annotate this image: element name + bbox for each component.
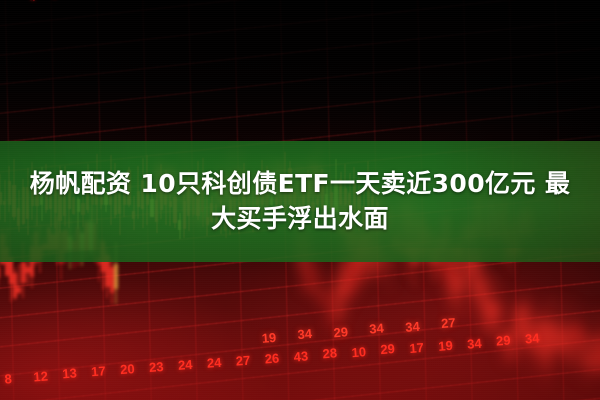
axis-tick-label: 29 <box>333 325 348 339</box>
axis-tick-label: 34 <box>525 332 540 346</box>
axis-tick-label: 17 <box>409 341 424 355</box>
axis-tick-label: 23 <box>149 360 164 374</box>
axis-tick-label: 27 <box>441 316 456 330</box>
axis-tick-label: 27 <box>235 354 250 368</box>
axis-tick-label: 19 <box>438 339 453 353</box>
axis-tick-label: 34 <box>297 327 312 341</box>
axis-tick-label: 29 <box>496 334 511 348</box>
axis-tick-label: 28 <box>322 346 337 360</box>
headline-block: 杨帆配资 10只科创债ETF一天卖近300亿元 最 大买手浮出水面 <box>0 141 600 262</box>
axis-tick-label: 8 <box>4 372 12 385</box>
headline-line-2: 大买手浮出水面 <box>211 205 389 234</box>
axis-tick-label: 24 <box>178 358 193 372</box>
axis-tick-label: 24 <box>206 355 221 369</box>
axis-tick-label: 34 <box>467 337 482 351</box>
axis-tick-label: 29 <box>380 342 395 356</box>
axis-tick-label: 19 <box>261 330 276 344</box>
axis-tick-label: 34 <box>405 320 420 334</box>
headline-line-1: 杨帆配资 10只科创债ETF一天卖近300亿元 最 <box>30 170 571 199</box>
axis-tick-label: 43 <box>293 350 308 364</box>
axis-tick-label: 12 <box>33 369 48 383</box>
axis-tick-label: 34 <box>369 322 384 336</box>
candle-body <box>114 264 118 289</box>
axis-tick-label: 20 <box>120 363 135 377</box>
axis-tick-label: 13 <box>62 366 77 380</box>
news-thumbnail: 46912151820303021302720 193429343427 812… <box>0 0 600 400</box>
axis-tick-label: 26 <box>264 352 279 366</box>
axis-tick-label: 17 <box>91 365 106 379</box>
axis-tick-label: 10 <box>351 345 366 359</box>
